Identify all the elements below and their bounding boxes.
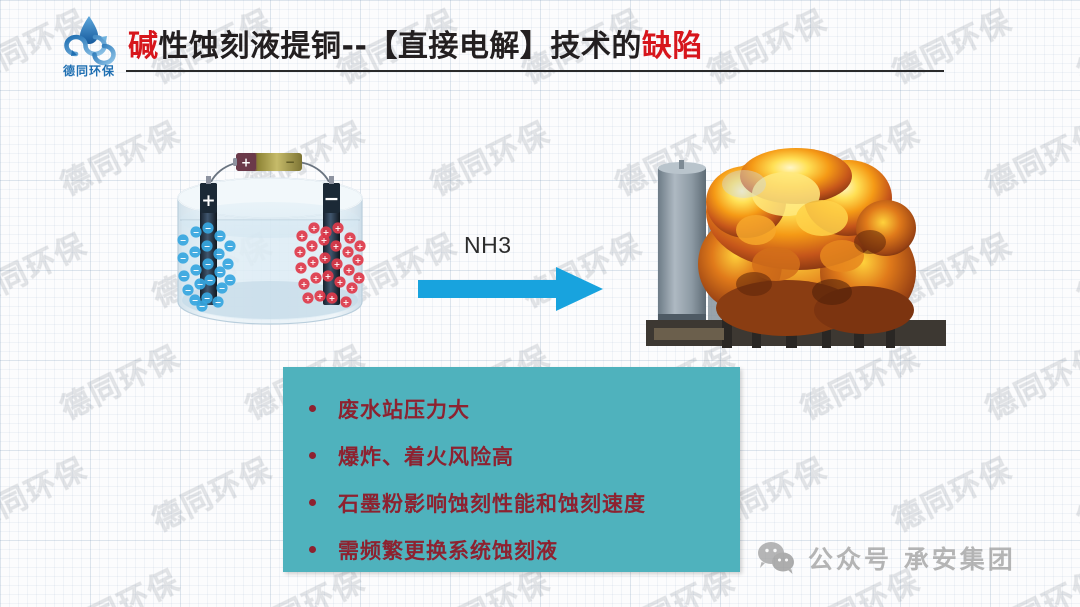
company-logo: 德同环保: [42, 14, 136, 82]
logo-wordmark: 德同环保: [42, 62, 136, 79]
logo-mark: [42, 14, 136, 66]
ion-sign: +: [310, 258, 317, 267]
right-arrow-icon: [418, 267, 603, 311]
storage-tank: [658, 160, 706, 328]
bullet-dot-icon: [309, 405, 316, 412]
ion-sign: +: [346, 266, 353, 275]
ion-sign: +: [329, 294, 336, 303]
ion-sign: −: [193, 266, 200, 275]
ion-sign: +: [334, 260, 341, 269]
ion-sign: +: [325, 272, 332, 281]
ion-sign: −: [207, 276, 214, 285]
bullet-text: 爆炸、着火风险高: [338, 436, 514, 478]
ion-sign: −: [219, 284, 226, 293]
ion-sign: +: [343, 298, 350, 307]
ion-sign: +: [322, 254, 329, 263]
ion-sign: −: [215, 298, 222, 307]
ion-sign: +: [321, 236, 328, 245]
bullet-text: 石墨粉影响蚀刻性能和蚀刻速度: [338, 483, 646, 525]
bullet-list: 废水站压力大爆炸、着火风险高石墨粉影响蚀刻性能和蚀刻速度需频繁更换系统蚀刻液: [283, 367, 740, 572]
bullet-dot-icon: [309, 546, 316, 553]
ion-sign: +: [333, 242, 340, 251]
explosion-photo: [636, 132, 958, 358]
nh3-arrow-group: NH3: [418, 232, 603, 312]
ion-sign: +: [357, 242, 364, 251]
slide-canvas: 德同环保德同环保德同环保德同环保德同环保德同环保德同环保德同环保德同环保德同环保…: [0, 0, 1080, 607]
ion-sign: −: [185, 286, 192, 295]
ion-sign: −: [217, 268, 224, 277]
svg-text:−: −: [324, 188, 340, 210]
ion-sign: −: [217, 232, 224, 241]
ion-sign: +: [349, 284, 356, 293]
ion-sign: +: [311, 224, 318, 233]
ion-sign: +: [309, 242, 316, 251]
ion-sign: +: [337, 278, 344, 287]
bullet-dot-icon: [309, 499, 316, 506]
ion-sign: −: [227, 242, 234, 251]
bullet-item: 石墨粉影响蚀刻性能和蚀刻速度: [283, 483, 740, 525]
title-part-1: 碱: [128, 29, 159, 64]
ion-sign: +: [299, 232, 306, 241]
ion-sign: +: [313, 274, 320, 283]
watermark-text: 德同环保: [0, 556, 1, 607]
ion-sign: −: [225, 260, 232, 269]
watermark-text: 德同环保: [422, 108, 556, 204]
watermark-text: 德同环保: [0, 332, 1, 428]
ion-sign: −: [181, 272, 188, 281]
bullet-text: 需频繁更换系统蚀刻液: [338, 530, 558, 572]
title-part-3: 缺陷: [642, 29, 703, 64]
ion-sign: +: [305, 294, 312, 303]
defects-bullet-panel: 废水站压力大爆炸、着火风险高石墨粉影响蚀刻性能和蚀刻速度需频繁更换系统蚀刻液: [283, 367, 740, 572]
watermark-text: 德同环保: [0, 220, 93, 316]
watermark-text: 德同环保: [0, 108, 1, 204]
ion-sign: +: [355, 256, 362, 265]
ion-sign: +: [356, 274, 363, 283]
watermark-text: 德同环保: [144, 444, 278, 540]
bullet-item: 废水站压力大: [283, 389, 740, 431]
ion-sign: +: [317, 292, 324, 301]
svg-text:+: +: [241, 156, 251, 170]
svg-text:−: −: [285, 155, 295, 169]
ion-sign: −: [180, 236, 187, 245]
bullet-item: 需频繁更换系统蚀刻液: [283, 530, 740, 572]
bullet-dot-icon: [309, 452, 316, 459]
page-title: 碱性蚀刻液提铜--【直接电解】技术的缺陷: [128, 21, 703, 65]
ion-sign: −: [192, 248, 199, 257]
electrolysis-cell-illustration: + − +: [150, 128, 390, 356]
wechat-footer: 公众号 承安集团: [756, 540, 1016, 576]
ion-sign: −: [180, 254, 187, 263]
watermark-text: 德同环保: [1069, 220, 1080, 316]
watermark-text: 德同环保: [977, 108, 1080, 204]
wechat-icon: [756, 541, 796, 575]
watermark-text: 德同环保: [0, 444, 93, 540]
bullet-text: 废水站压力大: [338, 389, 470, 431]
watermark-text: 德同环保: [1069, 444, 1080, 540]
ion-sign: −: [199, 302, 206, 311]
ion-sign: −: [205, 224, 212, 233]
title-part-2: 性蚀刻液提铜--【直接电解】技术的: [159, 29, 642, 64]
watermark-text: 德同环保: [977, 332, 1080, 428]
watermark-text: 德同环保: [52, 556, 186, 607]
wechat-account-label: 公众号 承安集团: [808, 540, 1016, 576]
ion-sign: +: [347, 234, 354, 243]
nh3-label: NH3: [464, 232, 512, 259]
bullet-item: 爆炸、着火风险高: [283, 436, 740, 478]
battery: + −: [233, 153, 302, 171]
ion-sign: −: [205, 260, 212, 269]
ion-sign: +: [301, 280, 308, 289]
ion-sign: −: [216, 250, 223, 259]
ion-sign: +: [335, 224, 342, 233]
slide-header: 德同环保 碱性蚀刻液提铜--【直接电解】技术的缺陷: [0, 0, 1080, 92]
ion-sign: +: [297, 248, 304, 257]
svg-text:+: +: [201, 191, 215, 211]
ion-sign: −: [197, 280, 204, 289]
title-underline: [126, 70, 944, 72]
ion-sign: +: [345, 248, 352, 257]
watermark-text: 德同环保: [884, 444, 1018, 540]
ion-sign: −: [204, 242, 211, 251]
ion-sign: +: [298, 264, 305, 273]
ion-sign: −: [227, 276, 234, 285]
ion-sign: −: [193, 228, 200, 237]
